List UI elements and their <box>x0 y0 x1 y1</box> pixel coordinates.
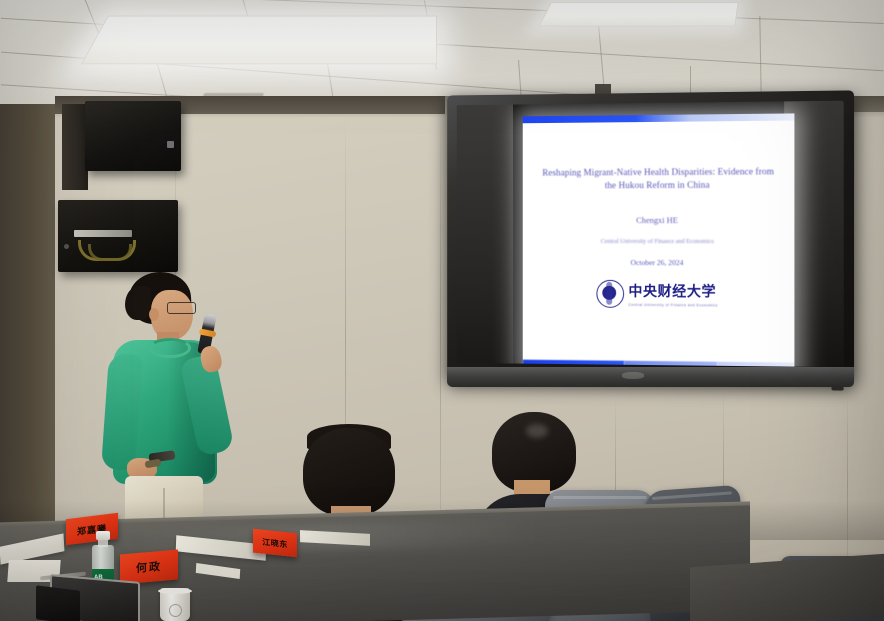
wall-left-dark-column <box>0 104 62 540</box>
wall-mounted-display[interactable]: Reshaping Migrant-Native Health Disparit… <box>447 90 854 383</box>
glasses-icon <box>167 302 196 314</box>
presenter-hair-side <box>125 286 151 320</box>
equipment-slot <box>74 230 132 237</box>
presenter-ear <box>149 308 159 321</box>
laptop-base <box>36 585 80 621</box>
speaker-indicator-icon <box>167 141 174 148</box>
slide-date: October 26, 2024 <box>631 258 684 267</box>
university-logo: 中央财经大学 Central University of Finance and… <box>597 280 718 309</box>
cup-rim <box>158 588 192 594</box>
nameplate-text: 江晓东 <box>253 529 297 558</box>
display-screen[interactable]: Reshaping Migrant-Native Health Disparit… <box>457 101 844 368</box>
ceiling-light-panel-secondary <box>539 2 739 26</box>
bottle-cap <box>96 531 110 540</box>
laptop[interactable] <box>36 578 136 621</box>
av-junction-box <box>58 200 178 272</box>
slide-title: Reshaping Migrant-Native Health Disparit… <box>540 165 776 192</box>
wall-speaker <box>85 101 181 171</box>
university-name-cn: 中央财经大学 <box>629 281 718 301</box>
cup-logo-icon <box>169 604 182 617</box>
screen-letterbox-left <box>457 105 513 364</box>
bottle-neck <box>98 539 108 547</box>
presentation-slide[interactable]: Reshaping Migrant-Native Health Disparit… <box>523 113 795 367</box>
slide-author: Chengxi HE <box>636 216 678 225</box>
attendee-hair-highlight <box>526 424 548 438</box>
slide-affiliation: Central University of Finance and Econom… <box>601 238 714 245</box>
university-emblem-icon <box>597 280 625 308</box>
display-bottom-bezel <box>447 367 854 387</box>
nameplate: 江晓东 <box>253 531 297 555</box>
conference-room-photo: Reshaping Migrant-Native Health Disparit… <box>0 0 884 621</box>
ceiling-light-panel <box>81 16 437 65</box>
cable-loop-icon-secondary <box>88 244 132 261</box>
display-brand-logo <box>622 372 644 379</box>
paper-cup[interactable] <box>160 588 190 621</box>
slide-content: Reshaping Migrant-Native Health Disparit… <box>523 121 795 360</box>
university-name-en: Central University of Finance and Econom… <box>629 303 718 308</box>
presenter-collar <box>149 338 191 358</box>
